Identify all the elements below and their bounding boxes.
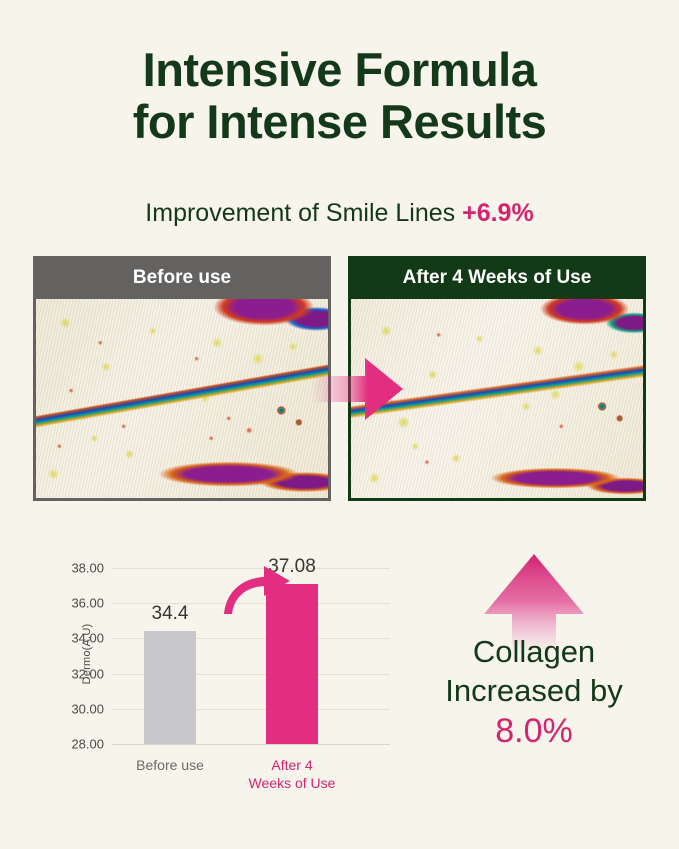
- subtitle: Improvement of Smile Lines +6.9%: [0, 198, 679, 228]
- chart-plot-area: 38.0036.0034.0032.0030.0028.00 34.4 Befo…: [112, 568, 390, 744]
- skin-topography-image-before: [36, 299, 328, 498]
- panel-before-title: Before use: [36, 256, 328, 299]
- collagen-line-2: Increased by: [400, 671, 668, 710]
- chart-xlabel-after-line-1: After 4: [271, 757, 312, 773]
- page-title: Intensive Formula for Intense Results: [0, 44, 679, 148]
- subtitle-text: Improvement of Smile Lines: [145, 199, 455, 227]
- bar-chart: Dermo(A.U) 38.0036.0034.0032.0030.0028.0…: [40, 552, 400, 792]
- collagen-line-1: Collagen: [400, 632, 668, 671]
- chart-ytick-label: 38.00: [71, 561, 104, 576]
- chart-ytick-label: 36.00: [71, 596, 104, 611]
- chart-bar-before: 34.4 Before use: [144, 631, 196, 744]
- panel-before-image: [36, 299, 328, 498]
- page-title-line-1: Intensive Formula: [0, 44, 679, 96]
- chart-ytick-label: 28.00: [71, 737, 104, 752]
- chart-y-axis-title: Dermo(A.U): [81, 609, 93, 699]
- chart-bar-before-value: 34.4: [152, 603, 189, 625]
- collagen-callout: Collagen Increased by 8.0%: [400, 552, 668, 752]
- infographic-page: Intensive Formula for Intense Results Im…: [0, 0, 679, 849]
- panel-before: Before use: [33, 256, 331, 501]
- chart-xlabel-before-line-1: Before use: [136, 757, 204, 773]
- chart-xlabel-after-line-2: Weeks of Use: [249, 775, 336, 791]
- page-title-line-2: for Intense Results: [0, 96, 679, 148]
- chart-ytick-label: 34.00: [71, 631, 104, 646]
- chart-gridline: 28.00: [112, 744, 390, 745]
- curved-up-arrow-icon: [220, 564, 292, 616]
- chart-xlabel-after: After 4 Weeks of Use: [249, 756, 336, 792]
- collagen-percent: 8.0%: [400, 710, 668, 752]
- panel-after-title: After 4 Weeks of Use: [351, 256, 643, 299]
- comparison-panels: Before use After 4 Weeks of Use: [33, 256, 646, 501]
- collagen-text: Collagen Increased by 8.0%: [400, 552, 668, 752]
- right-arrow-icon: [311, 356, 403, 422]
- chart-ytick-label: 30.00: [71, 701, 104, 716]
- subtitle-percent: +6.9%: [462, 199, 534, 227]
- chart-ytick-label: 32.00: [71, 666, 104, 681]
- chart-xlabel-before: Before use: [136, 756, 204, 774]
